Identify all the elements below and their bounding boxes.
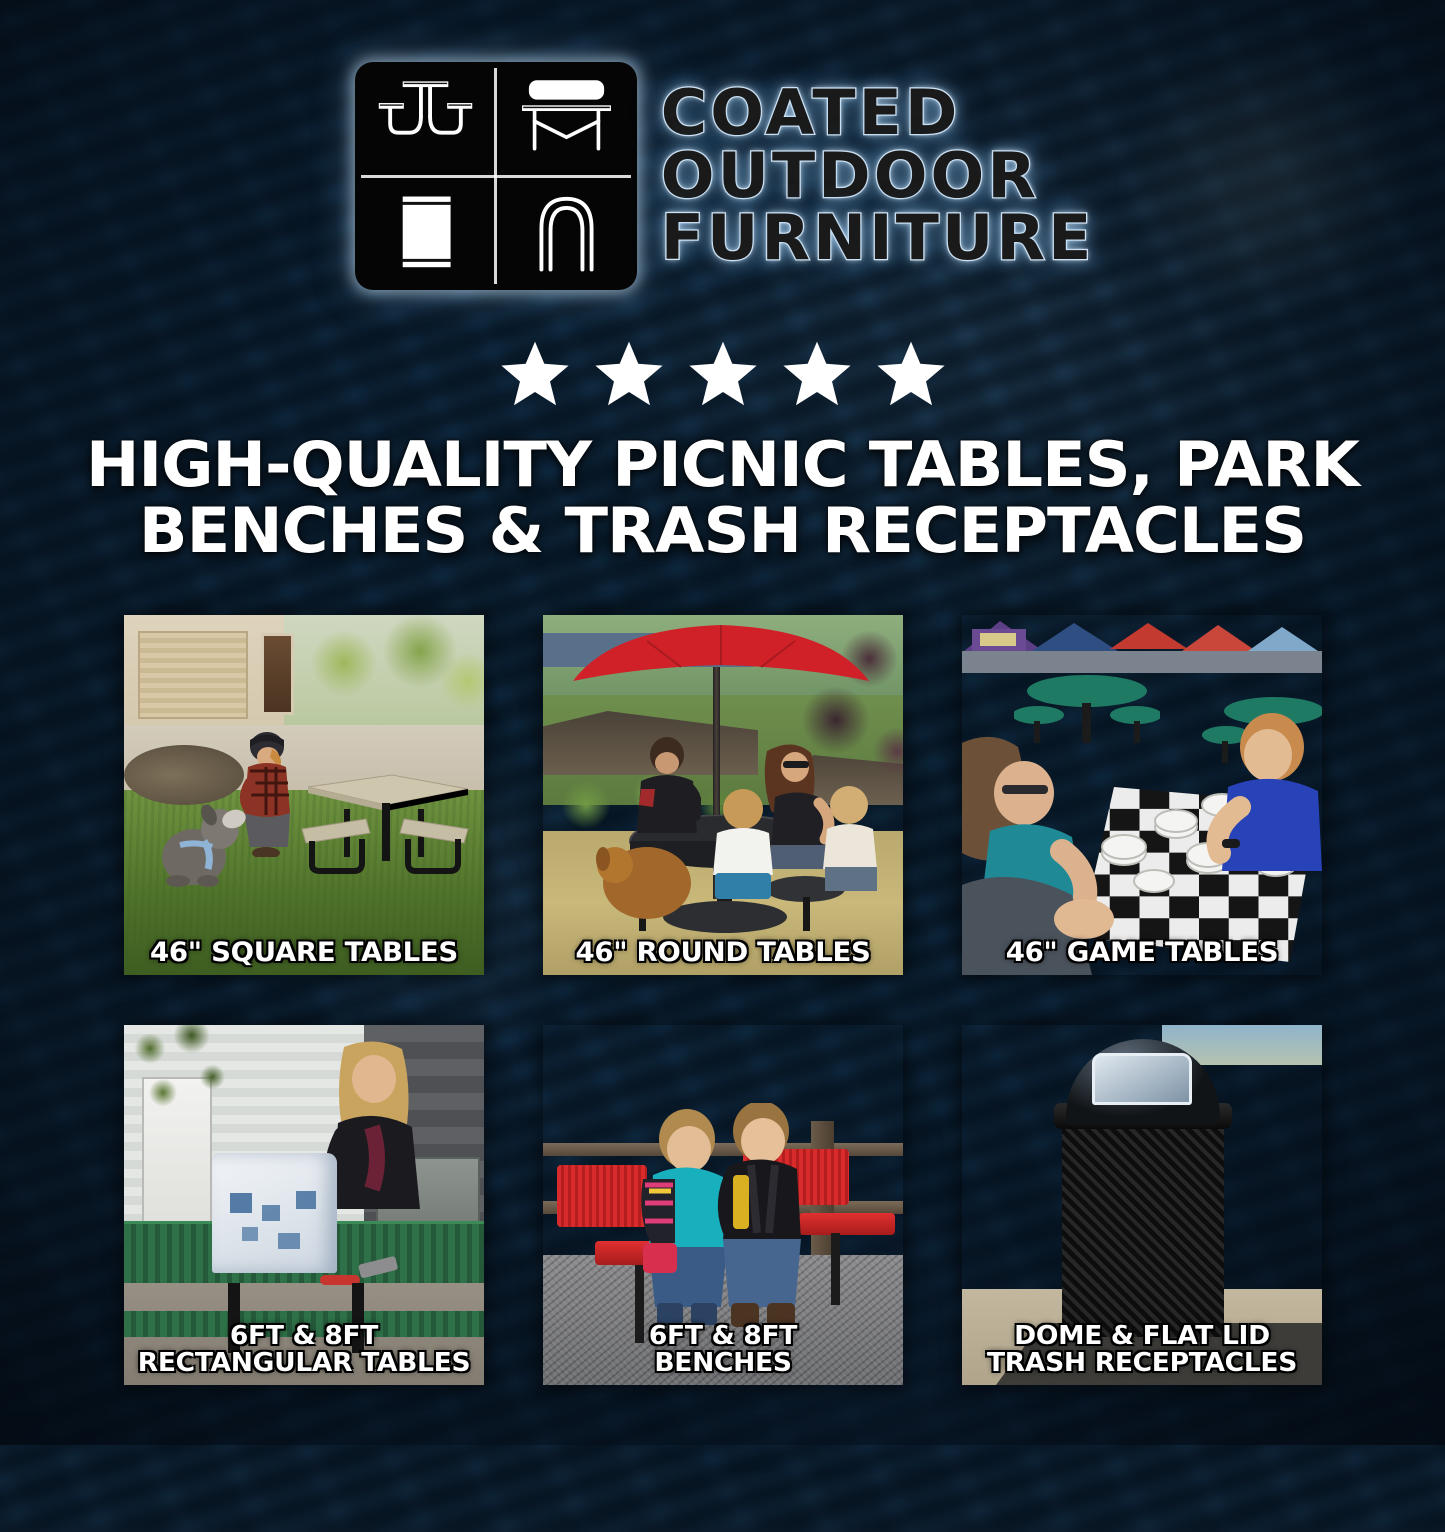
logo-divider-horizontal bbox=[361, 175, 631, 178]
product-tile-square-tables[interactable]: 46" SQUARE TABLES bbox=[124, 615, 484, 975]
product-tile-round-tables[interactable]: 46" ROUND TABLES bbox=[543, 615, 903, 975]
tile-caption-trash-receptacles: DOME & FLAT LID TRASH RECEPTACLES bbox=[965, 1323, 1320, 1377]
brand-name-line-2: OUTDOOR bbox=[661, 146, 1095, 207]
photo-vendor-tents bbox=[962, 617, 1322, 673]
photo-boy-black-shirt bbox=[711, 1103, 816, 1333]
tile-caption-game-tables: 46" GAME TABLES bbox=[965, 939, 1320, 967]
tile-caption-round-tables: 46" ROUND TABLES bbox=[546, 939, 901, 967]
brand-name-line-3: FURNITURE bbox=[661, 208, 1095, 269]
photo-child bbox=[815, 783, 887, 903]
page-title: HIGH-QUALITY PICNIC TABLES, PARK BENCHES… bbox=[40, 432, 1405, 565]
caption-line: BENCHES bbox=[546, 1350, 901, 1377]
tile-caption-rectangular-tables: 6FT & 8FT RECTANGULAR TABLES bbox=[127, 1323, 482, 1377]
caption-line: DOME & FLAT LID bbox=[965, 1323, 1320, 1350]
caption-line: 6FT & 8FT bbox=[546, 1323, 901, 1350]
star-rating bbox=[0, 338, 1445, 410]
star-icon bbox=[686, 338, 760, 410]
photo-red-umbrella bbox=[571, 623, 871, 693]
photo-toddler bbox=[703, 787, 783, 907]
furniture-grid-logo-icon bbox=[355, 62, 637, 290]
bench-table-side-icon bbox=[496, 62, 637, 176]
photo-hanging-vine bbox=[124, 1025, 254, 1155]
product-tile-rectangular-tables[interactable]: 6FT & 8FT RECTANGULAR TABLES bbox=[124, 1025, 484, 1385]
photo-bench-leg bbox=[831, 1233, 840, 1305]
caption-line: 46" SQUARE TABLES bbox=[127, 939, 482, 967]
photo-bag-graphics bbox=[212, 1151, 337, 1273]
tile-caption-square-tables: 46" SQUARE TABLES bbox=[127, 939, 482, 967]
photo-golden-dog bbox=[595, 829, 705, 925]
photo-dog bbox=[160, 783, 252, 888]
star-icon bbox=[592, 338, 666, 410]
product-tile-game-tables[interactable]: 46" GAME TABLES bbox=[962, 615, 1322, 975]
caption-line: RECTANGULAR TABLES bbox=[127, 1350, 482, 1377]
photo-boy-player bbox=[1202, 711, 1322, 911]
star-icon bbox=[780, 338, 854, 410]
caption-line: TRASH RECEPTACLES bbox=[965, 1350, 1320, 1377]
product-photo-round-tables bbox=[543, 615, 903, 975]
caption-line: 46" GAME TABLES bbox=[965, 939, 1320, 967]
product-photo-game-tables bbox=[962, 615, 1322, 975]
star-icon bbox=[874, 338, 948, 410]
star-icon bbox=[498, 338, 572, 410]
photo-garage-door bbox=[138, 631, 248, 719]
product-tile-benches[interactable]: 6FT & 8FT BENCHES bbox=[543, 1025, 903, 1385]
brand-name-line-1: COATED bbox=[661, 83, 1095, 144]
product-tile-trash-receptacles[interactable]: DOME & FLAT LID TRASH RECEPTACLES bbox=[962, 1025, 1322, 1385]
photo-square-picnic-table bbox=[300, 753, 470, 878]
photo-trash-can-body bbox=[1062, 1107, 1224, 1337]
photo-bench-backrest bbox=[557, 1165, 647, 1227]
product-photo-square-tables bbox=[124, 615, 484, 975]
picnic-table-front-icon bbox=[355, 62, 496, 176]
brand-name: COATED OUTDOOR FURNITURE bbox=[665, 83, 1090, 269]
caption-line: 6FT & 8FT bbox=[127, 1323, 482, 1350]
product-grid: 46" SQUARE TABLES bbox=[124, 615, 1323, 1385]
photo-dome-opening bbox=[1092, 1053, 1192, 1105]
caption-line: 46" ROUND TABLES bbox=[546, 939, 901, 967]
trash-receptacle-icon bbox=[355, 176, 496, 290]
photo-trees bbox=[284, 615, 484, 735]
brand-logo: COATED OUTDOOR FURNITURE bbox=[0, 62, 1445, 290]
photo-front-door bbox=[261, 633, 294, 715]
bike-rack-arch-icon bbox=[496, 176, 637, 290]
headline-line-1: HIGH-QUALITY PICNIC TABLES, PARK bbox=[40, 432, 1405, 498]
headline-line-2: BENCHES & TRASH RECEPTACLES bbox=[40, 498, 1405, 564]
tile-caption-benches: 6FT & 8FT BENCHES bbox=[546, 1323, 901, 1377]
